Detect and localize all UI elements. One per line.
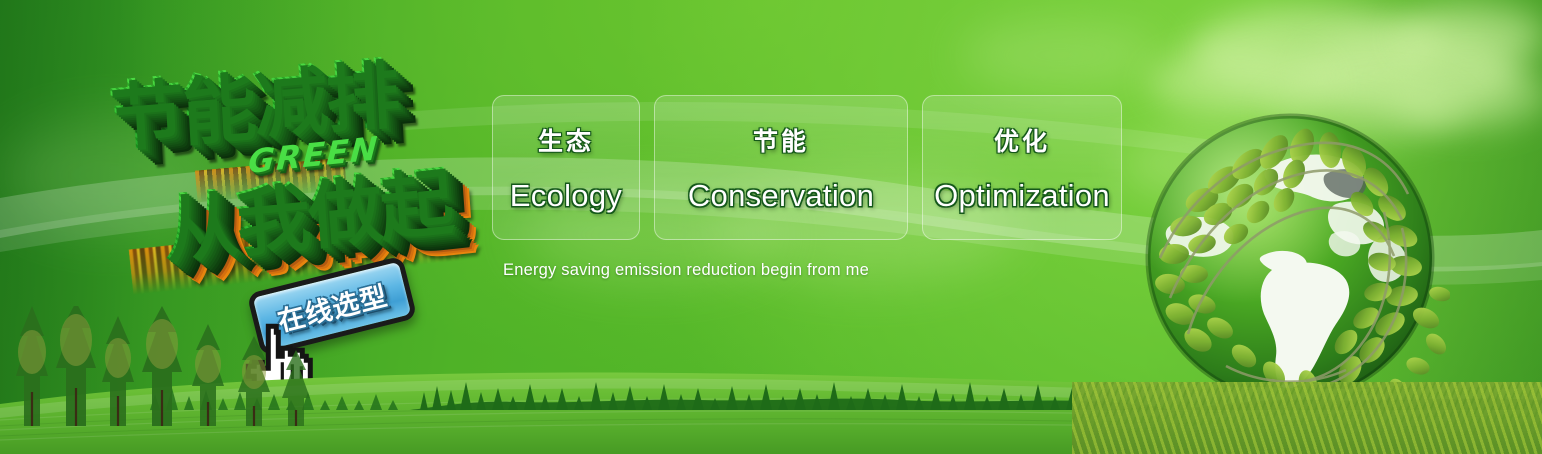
green-energy-banner: 节能减排 从我做起 GREEN 在线选型 生态 Ecology 节能 Conse… <box>0 0 1542 454</box>
feature-card-ecology-cn: 生态 <box>538 122 594 158</box>
feature-card-ecology[interactable]: 生态 Ecology <box>492 95 640 240</box>
fallen-leaves-icon <box>1072 382 1542 454</box>
feature-card-optimization-cn: 优化 <box>994 122 1050 158</box>
feature-card-conservation-cn: 节能 <box>753 122 809 158</box>
feature-cards: 生态 Ecology 节能 Conservation 优化 Optimizati… <box>492 95 1122 240</box>
tagline: Energy saving emission reduction begin f… <box>503 261 869 280</box>
feature-card-ecology-en: Ecology <box>510 178 622 214</box>
feature-card-optimization[interactable]: 优化 Optimization <box>922 95 1122 240</box>
feature-card-optimization-en: Optimization <box>934 178 1110 214</box>
feature-card-conservation[interactable]: 节能 Conservation <box>654 95 908 240</box>
headline-artwork: 节能减排 从我做起 GREEN <box>100 36 490 266</box>
tree-icon-left-group <box>0 306 330 426</box>
feature-card-conservation-en: Conservation <box>688 178 874 214</box>
